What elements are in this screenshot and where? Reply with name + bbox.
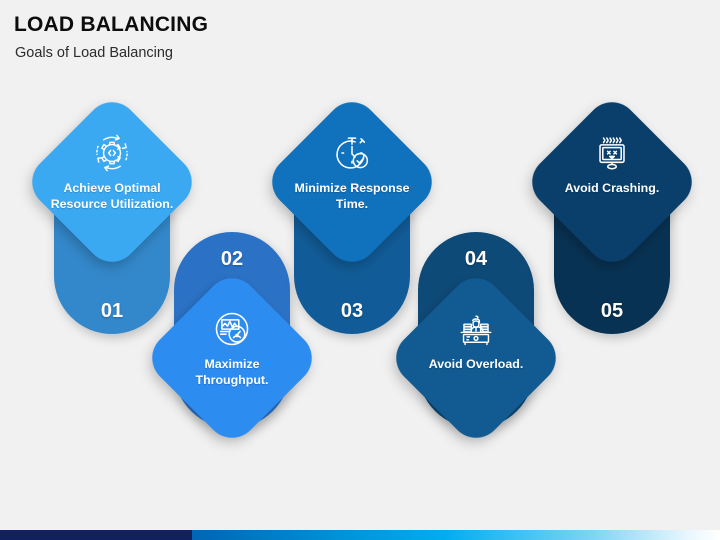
bar-navy-segment: [0, 530, 192, 540]
bottom-accent-bar: [0, 530, 720, 540]
goals-diagram: Achieve Optimal Resource Utilization.01 …: [0, 0, 720, 500]
goal-node-number: 05: [532, 301, 692, 321]
bar-gradient-segment: [192, 530, 720, 540]
goal-node-05[interactable]: Avoid Crashing.05: [532, 104, 692, 334]
goal-node-diamond: [521, 91, 702, 272]
